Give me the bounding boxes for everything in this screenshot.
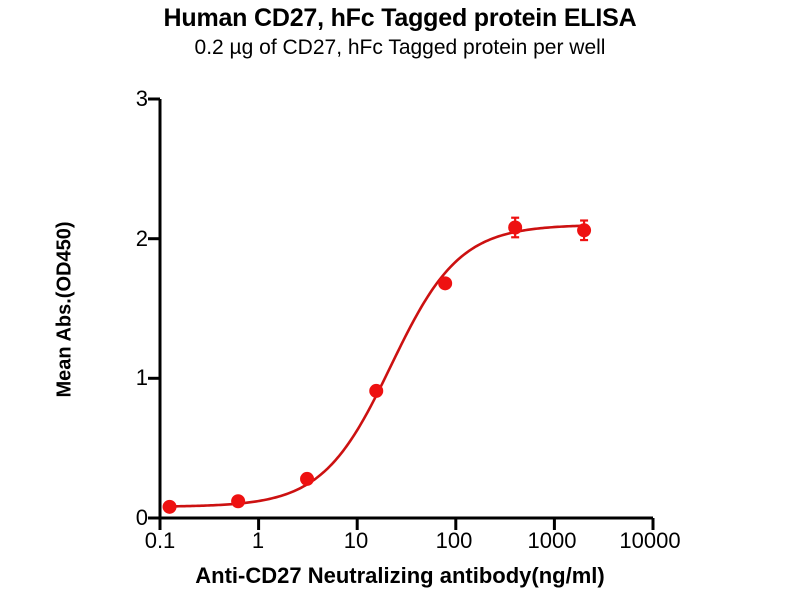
data-point-marker	[438, 276, 452, 290]
data-point-marker	[577, 223, 591, 237]
fit-curve-path	[170, 226, 585, 507]
x-axis-ticks	[160, 518, 653, 530]
data-point-markers	[163, 220, 592, 513]
y-axis-ticks	[148, 99, 160, 518]
fit-curve	[170, 226, 585, 507]
data-point-marker	[369, 384, 383, 398]
data-point-marker	[300, 472, 314, 486]
data-point-marker	[508, 220, 522, 234]
axis-lines	[160, 99, 653, 518]
data-point-marker	[163, 500, 177, 514]
elisa-chart-figure: Human CD27, hFc Tagged protein ELISA 0.2…	[0, 0, 800, 600]
plot-area	[0, 0, 800, 600]
data-point-marker	[231, 494, 245, 508]
